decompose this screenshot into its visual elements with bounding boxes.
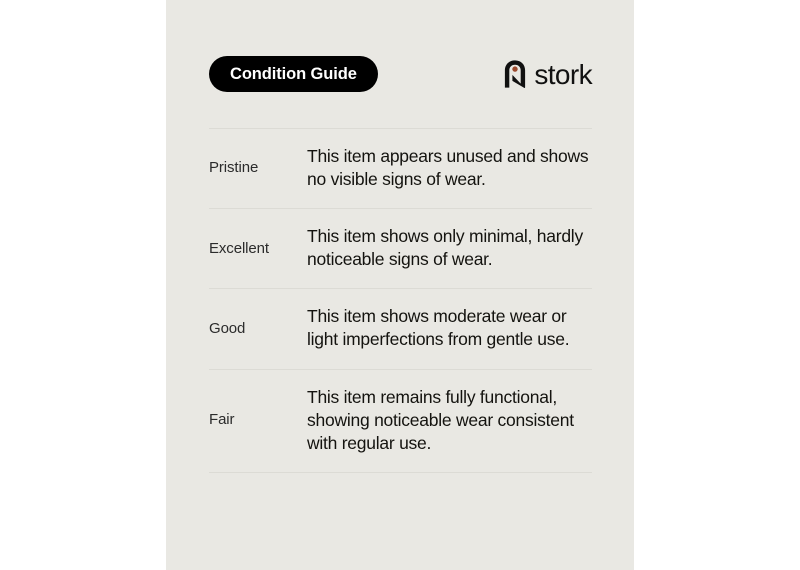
brand-lockup: stork	[503, 59, 592, 89]
table-row: Excellent This item shows only minimal, …	[209, 209, 592, 288]
table-row: Fair This item remains fully functional,…	[209, 370, 592, 472]
condition-description: This item appears unused and shows no vi…	[307, 145, 592, 191]
table-row: Good This item shows moderate wear or li…	[209, 289, 592, 368]
condition-label: Good	[209, 319, 307, 339]
condition-description: This item shows moderate wear or light i…	[307, 305, 592, 351]
condition-guide-table: Pristine This item appears unused and sh…	[209, 128, 592, 473]
condition-label: Fair	[209, 410, 307, 430]
condition-description: This item remains fully functional, show…	[307, 386, 592, 455]
condition-guide-badge: Condition Guide	[209, 56, 378, 92]
condition-guide-card: Condition Guide stork Pristine This item…	[166, 0, 634, 570]
card-header: Condition Guide stork	[209, 54, 592, 94]
brand-wordmark: stork	[534, 61, 592, 89]
table-row: Pristine This item appears unused and sh…	[209, 129, 592, 208]
row-divider	[209, 472, 592, 473]
condition-label: Pristine	[209, 158, 307, 178]
condition-description: This item shows only minimal, hardly not…	[307, 225, 592, 271]
condition-label: Excellent	[209, 239, 307, 259]
stork-arch-logo-icon	[503, 59, 527, 89]
